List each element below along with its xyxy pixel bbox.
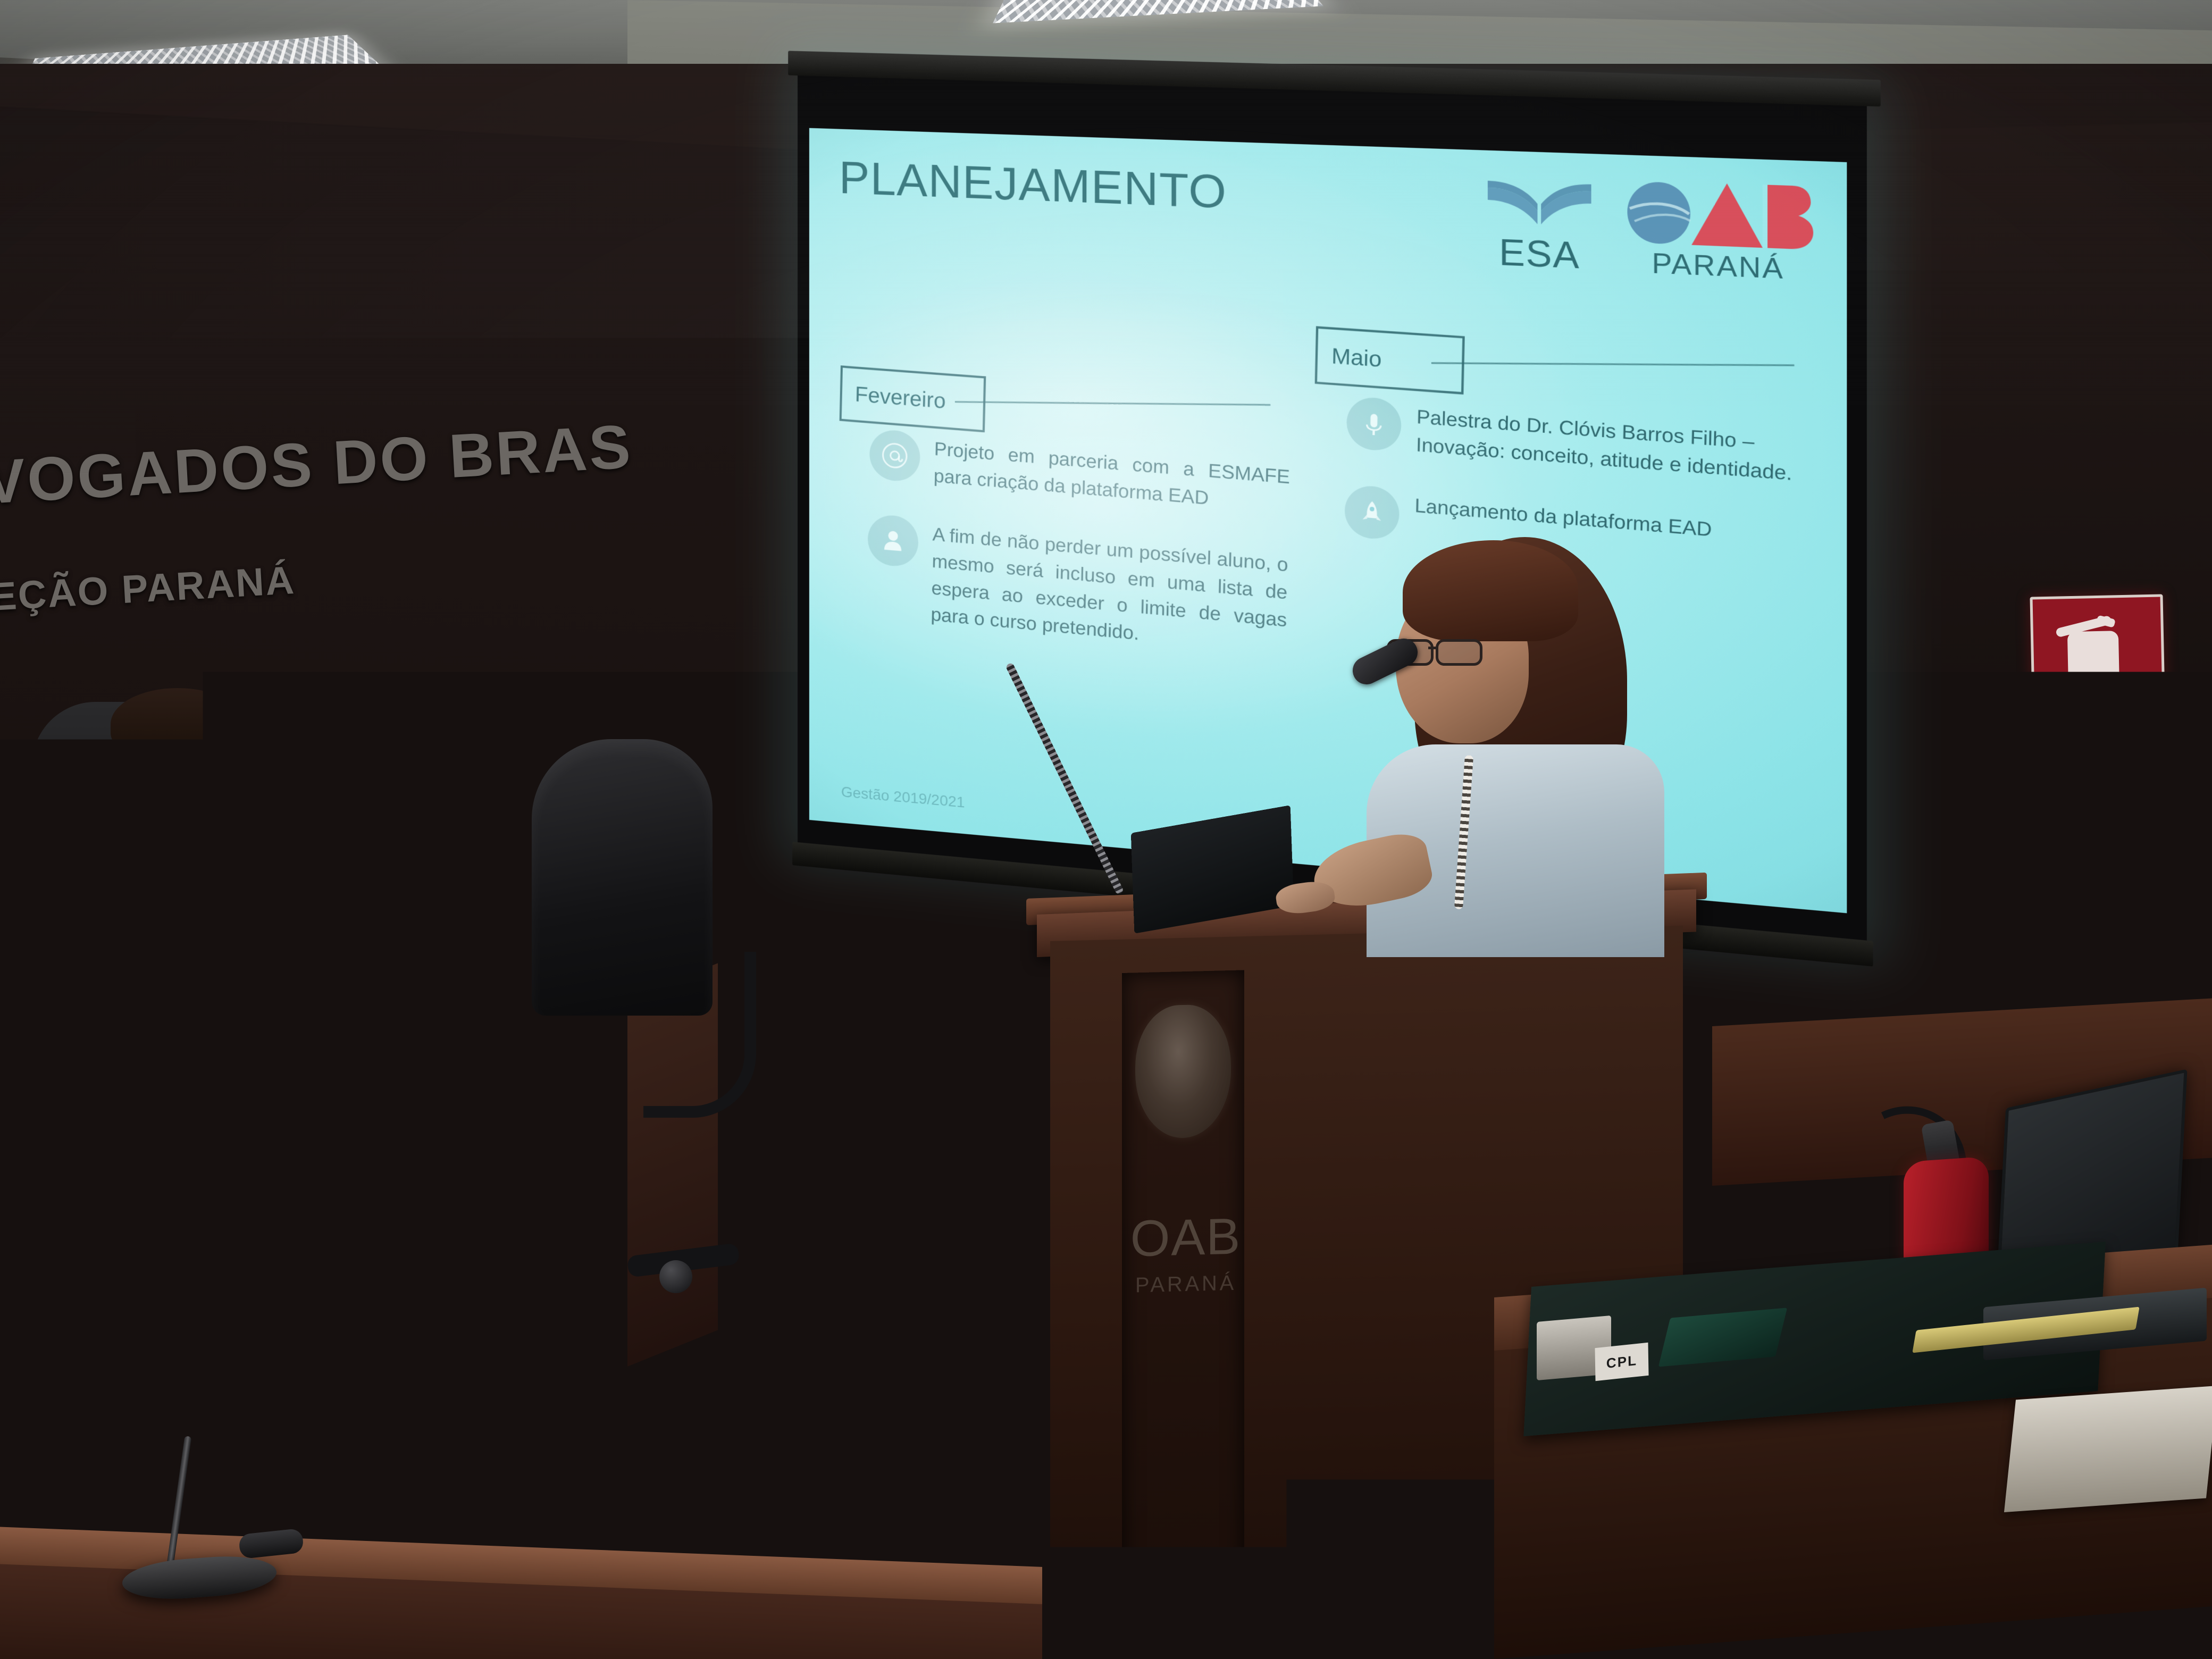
oab-logo: PARANÁ [1624,177,1814,287]
plastic-cup-rim [685,1472,820,1499]
slide-bullet: Projeto em parceria com a ESMAFE para cr… [869,429,1290,518]
bullet-text: A fim de não perder um possível aluno, o… [931,519,1288,661]
month-label-fevereiro: Fevereiro [840,365,986,432]
month-label-maio: Maio [1315,326,1465,394]
person-icon [867,514,919,568]
slide-footer: Gestão 2019/2021 [841,783,965,811]
open-book-icon [1483,162,1596,231]
conference-room-photo: VOGADOS DO BRAS EÇÃO PARANÁ PLANEJAMENTO [0,0,2212,1659]
plastic-cup [691,1481,816,1659]
chair-caster [659,1260,692,1293]
microphone-icon [1346,396,1402,453]
esa-logo: ESA [1483,162,1596,278]
podium-oab-logo: OAB PARANÁ [1133,1174,1239,1331]
cpl-label: CPL [1595,1343,1648,1381]
column-fevereiro: Projeto em parceria com a ESMAFE para cr… [866,429,1291,692]
esa-wordmark: ESA [1499,231,1580,277]
slide-title: PLANEJAMENTO [839,152,1227,220]
podium-parana-text: PARANÁ [1135,1271,1236,1297]
woman-speaker [1345,542,1749,936]
water-glass [266,957,321,1039]
rocket-icon [1344,484,1400,541]
slide-bullet: Palestra do Dr. Clóvis Barros Filho – In… [1346,396,1802,489]
chair-armrest [643,952,756,1118]
man-hair [111,688,245,760]
month-rule-fevereiro [955,401,1270,406]
esa-oab-logo: ESA PARANÁ [1483,162,1813,287]
woman-hair-front [1403,540,1578,641]
man-hand [185,801,254,870]
papers-on-control-desk [2004,1386,2212,1512]
bullet-text: Palestra do Dr. Clóvis Barros Filho – In… [1415,401,1802,488]
at-sign-icon [869,429,920,483]
fire-extinguisher-sign [2030,594,2165,727]
slide-bullet: A fim de não perder um possível aluno, o… [866,514,1288,661]
oab-globe-and-letters [1624,177,1814,250]
eyeglass-lens-right [1436,639,1482,666]
bullet-text: Projeto em parceria com a ESMAFE para cr… [933,433,1290,518]
bullet-text: Lançamento da plataforma EAD [1414,490,1712,544]
parana-wordmark: PARANÁ [1652,247,1784,286]
dais-table-front [0,1000,681,1425]
water-glass [5,952,71,1039]
month-rule-maio [1431,362,1795,366]
podium-oab-text: OAB [1130,1207,1242,1268]
extinguisher-body-icon [2067,631,2120,703]
